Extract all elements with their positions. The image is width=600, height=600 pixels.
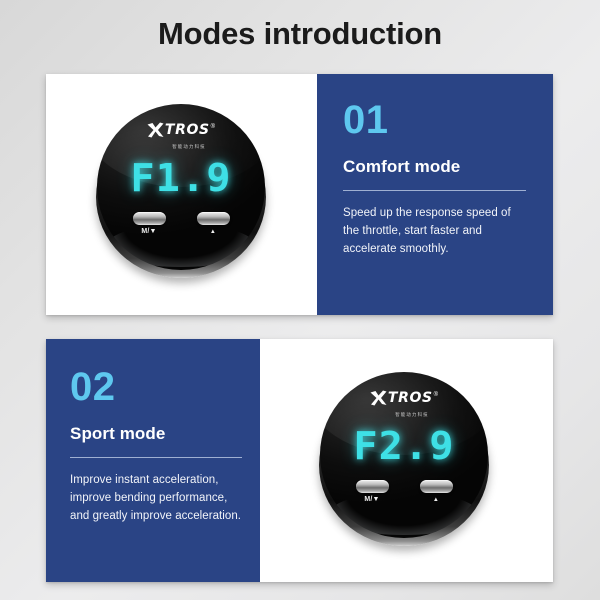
- mode-up-button-label: ▲: [195, 228, 231, 236]
- mode-up-button[interactable]: ▲: [418, 480, 454, 504]
- device-panel-2: TROS ® 智能动力科技 F2.9 M/▼ ▲: [260, 339, 553, 582]
- led-display-value: F1.9: [97, 156, 265, 200]
- throttle-controller-device-2: TROS ® 智能动力科技 F2.9 M/▼ ▲: [316, 372, 492, 548]
- x-star-icon: [370, 390, 387, 406]
- mode-up-button-label: ▲: [418, 496, 454, 504]
- mode-down-button[interactable]: M/▼: [354, 480, 390, 504]
- mode-down-button-label: M/▼: [354, 496, 390, 504]
- divider: [343, 190, 526, 191]
- mode-down-button-label: M/▼: [131, 228, 167, 236]
- mode-number: 02: [70, 367, 244, 407]
- page-title: Modes introduction: [0, 16, 600, 52]
- led-display-value: F2.9: [320, 424, 488, 468]
- trademark-symbol: ®: [434, 391, 438, 399]
- mode-up-button[interactable]: ▲: [195, 212, 231, 236]
- brand-name: TROS: [388, 391, 433, 406]
- throttle-controller-device-1: TROS ® 智能动力科技 F1.9 M/▼ ▲: [93, 104, 269, 280]
- mode-info-panel-comfort: 01 Comfort mode Speed up the response sp…: [317, 74, 553, 315]
- mode-name: Sport mode: [70, 424, 244, 444]
- device-panel-1: TROS ® 智能动力科技 F1.9 M/▼ ▲: [46, 74, 317, 315]
- mode-number: 01: [343, 100, 529, 140]
- mode-description: Improve instant acceleration, improve be…: [70, 472, 244, 525]
- mode-info-panel-sport: 02 Sport mode Improve instant accelerati…: [46, 339, 260, 582]
- device-face: TROS ® 智能动力科技 F1.9 M/▼ ▲: [97, 104, 265, 270]
- mode-name: Comfort mode: [343, 157, 529, 177]
- divider: [70, 457, 242, 458]
- brand-logo: TROS ® 智能动力科技: [320, 391, 488, 417]
- mode-down-key-cap[interactable]: [356, 480, 389, 493]
- trademark-symbol: ®: [211, 123, 215, 131]
- brand-subtitle: 智能动力科技: [97, 145, 265, 149]
- device-face: TROS ® 智能动力科技 F2.9 M/▼ ▲: [320, 372, 488, 538]
- mode-down-key-cap[interactable]: [133, 212, 166, 225]
- brand-logo: TROS ® 智能动力科技: [97, 123, 265, 149]
- mode-card-sport: 02 Sport mode Improve instant accelerati…: [46, 339, 553, 582]
- brand-name: TROS: [165, 123, 210, 138]
- mode-up-key-cap[interactable]: [197, 212, 230, 225]
- mode-down-button[interactable]: M/▼: [131, 212, 167, 236]
- device-button-row-2: M/▼ ▲: [320, 480, 488, 504]
- x-star-icon: [147, 122, 164, 138]
- device-button-row-1: M/▼ ▲: [97, 212, 265, 236]
- mode-card-comfort: TROS ® 智能动力科技 F1.9 M/▼ ▲: [46, 74, 553, 315]
- brand-subtitle: 智能动力科技: [320, 413, 488, 417]
- mode-up-key-cap[interactable]: [420, 480, 453, 493]
- mode-description: Speed up the response speed of the throt…: [343, 205, 529, 258]
